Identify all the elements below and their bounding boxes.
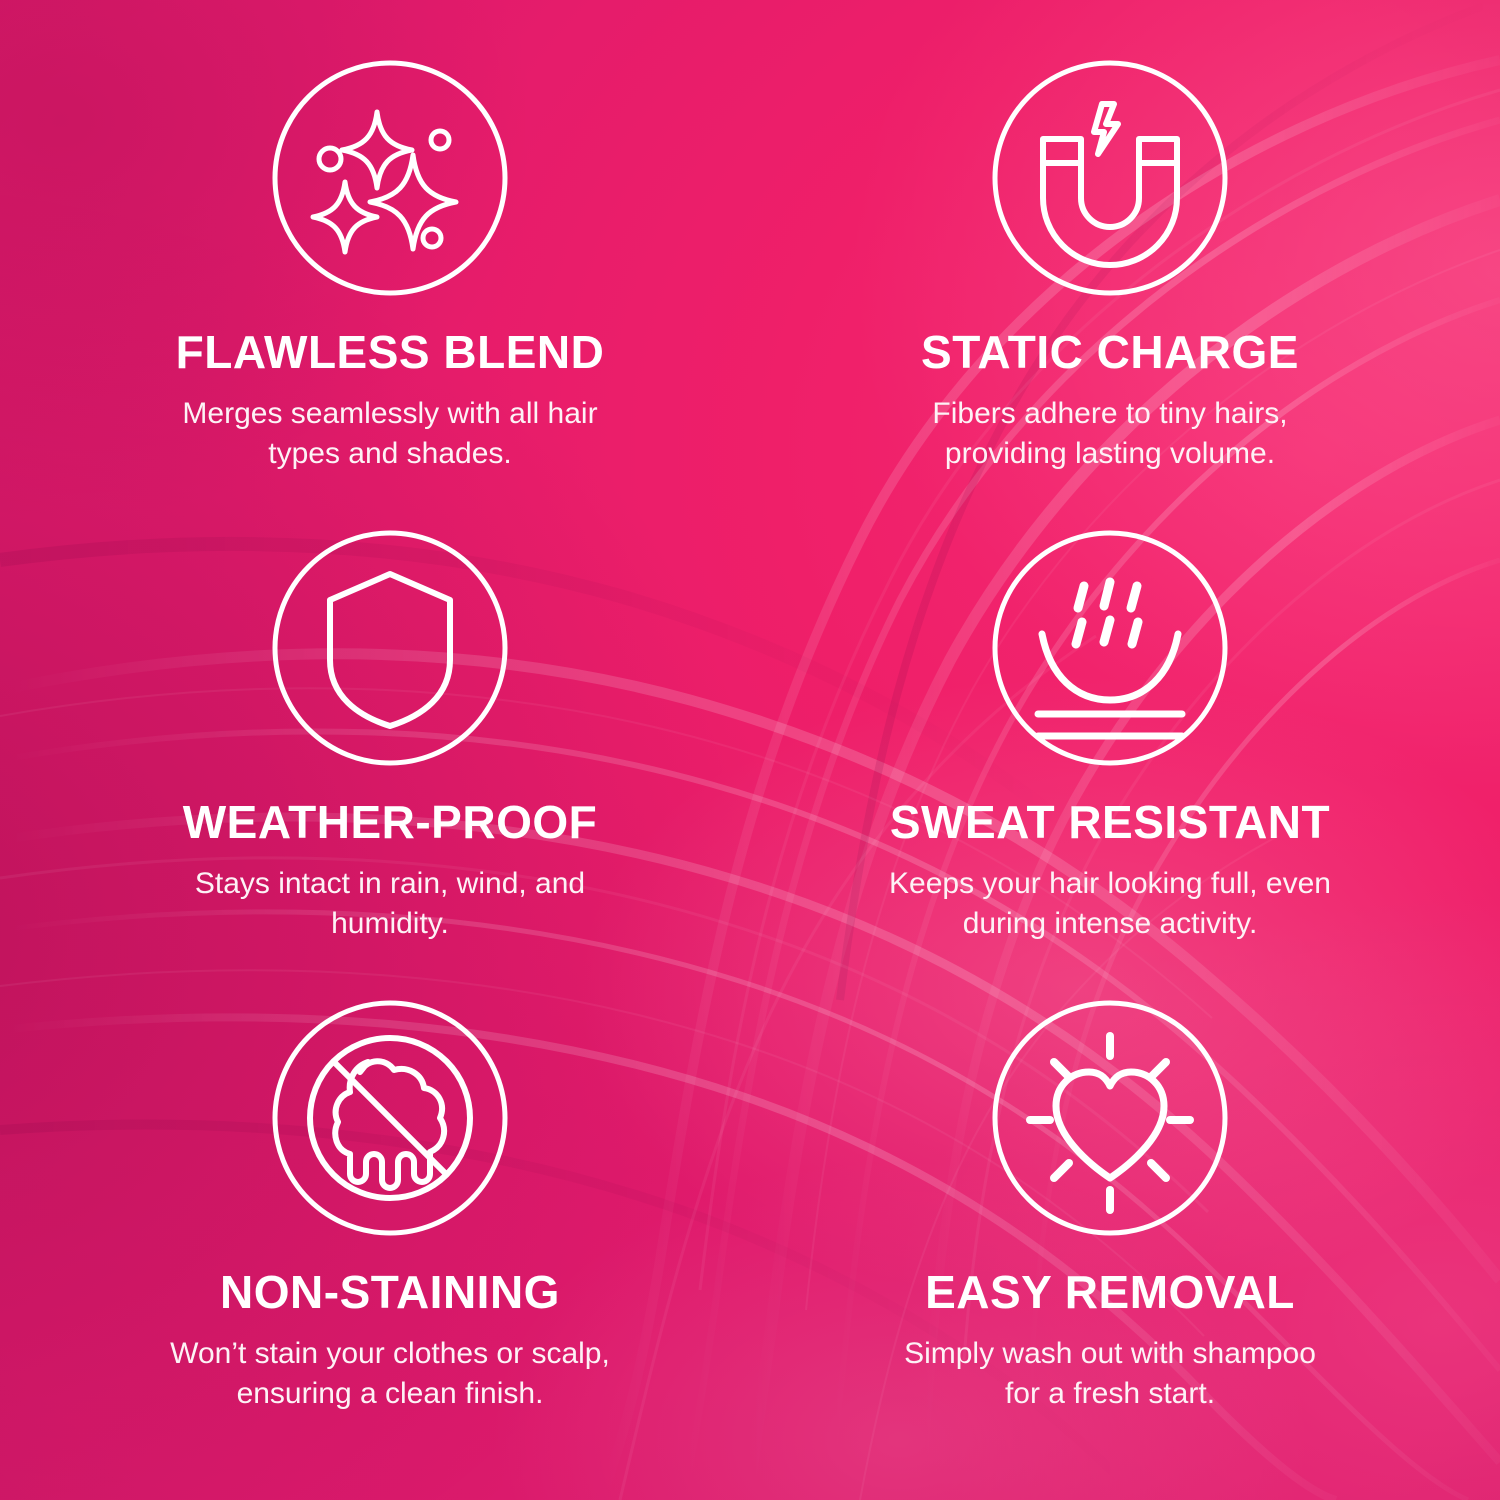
feature-description-line-2: during intense activity. [889,904,1331,944]
feature-description-line-2: for a fresh start. [904,1374,1316,1414]
feature-description: Keeps your hair looking full, even durin… [889,864,1331,944]
feature-description: Won’t stain your clothes or scalp, ensur… [170,1334,610,1414]
feature-description-line-1: Fibers adhere to tiny hairs, [932,394,1287,434]
feature-description-line-1: Keeps your hair looking full, even [889,864,1331,904]
feature-description-line-2: ensuring a clean finish. [170,1374,610,1414]
no-stain-icon [272,1000,508,1236]
feature-card-easy-removal: EASY REMOVAL Simply wash out with shampo… [750,1000,1470,1470]
feature-card-non-staining: NON-STAINING Won’t stain your clothes or… [30,1000,750,1470]
feature-description: Merges seamlessly with all hair types an… [182,394,597,474]
shining-heart-icon [992,1000,1228,1236]
feature-card-flawless-blend: FLAWLESS BLEND Merges seamlessly with al… [30,60,750,530]
feature-grid: FLAWLESS BLEND Merges seamlessly with al… [0,0,1500,1500]
feature-description: Stays intact in rain, wind, and humidity… [195,864,585,944]
feature-title: SWEAT RESISTANT [890,798,1330,846]
feature-card-static-charge: STATIC CHARGE Fibers adhere to tiny hair… [750,60,1470,530]
infographic-canvas: FLAWLESS BLEND Merges seamlessly with al… [0,0,1500,1500]
feature-description-line-2: providing lasting volume. [932,434,1287,474]
feature-description-line-2: humidity. [195,904,585,944]
feature-description-line-1: Won’t stain your clothes or scalp, [170,1334,610,1374]
feature-description-line-2: types and shades. [182,434,597,474]
water-repellent-icon [992,530,1228,766]
feature-title: STATIC CHARGE [921,328,1299,376]
feature-title: NON-STAINING [220,1268,560,1316]
magnet-icon [992,60,1228,296]
sparkle-icon [272,60,508,296]
feature-description-line-1: Stays intact in rain, wind, and [195,864,585,904]
feature-description-line-1: Merges seamlessly with all hair [182,394,597,434]
feature-title: FLAWLESS BLEND [176,328,605,376]
feature-description-line-1: Simply wash out with shampoo [904,1334,1316,1374]
feature-card-weather-proof: WEATHER-PROOF Stays intact in rain, wind… [30,530,750,1000]
feature-description: Fibers adhere to tiny hairs, providing l… [932,394,1287,474]
feature-title: WEATHER-PROOF [183,798,598,846]
feature-title: EASY REMOVAL [925,1268,1295,1316]
shield-icon [272,530,508,766]
feature-description: Simply wash out with shampoo for a fresh… [904,1334,1316,1414]
feature-card-sweat-resistant: SWEAT RESISTANT Keeps your hair looking … [750,530,1470,1000]
